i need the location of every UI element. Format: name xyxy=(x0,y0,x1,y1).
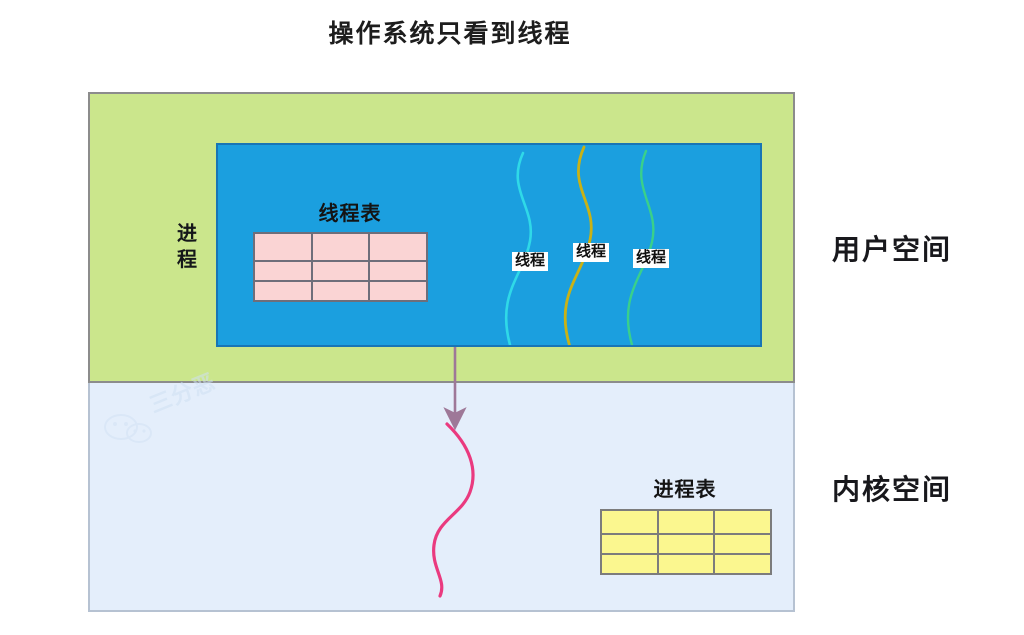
table-cell xyxy=(601,554,658,574)
table-row xyxy=(254,281,427,301)
table-cell xyxy=(369,261,427,281)
table-cell xyxy=(369,233,427,261)
table-row xyxy=(601,510,771,534)
thread-table-label: 线程表 xyxy=(280,197,420,226)
table-cell xyxy=(312,281,370,301)
table-row xyxy=(601,554,771,574)
table-cell xyxy=(658,510,715,534)
kernel-space-label: 内核空间 xyxy=(832,468,952,508)
table-row xyxy=(254,261,427,281)
table-row xyxy=(601,534,771,554)
process-table xyxy=(600,509,772,575)
thread-table xyxy=(253,232,428,302)
table-cell xyxy=(658,554,715,574)
table-cell xyxy=(714,534,771,554)
thread-label-2: 线程 xyxy=(573,243,609,262)
table-cell xyxy=(254,233,312,261)
table-cell xyxy=(658,534,715,554)
thread-curve-3 xyxy=(628,151,653,345)
process-label-char-1: 进 xyxy=(170,222,204,248)
table-cell xyxy=(601,534,658,554)
thread-label-3: 线程 xyxy=(633,249,669,268)
user-space-label: 用户空间 xyxy=(832,228,952,268)
process-table-label: 进程表 xyxy=(615,473,755,502)
page-title: 操作系统只看到线程 xyxy=(0,14,900,50)
table-cell xyxy=(254,281,312,301)
table-cell xyxy=(714,510,771,534)
thread-label-1: 线程 xyxy=(512,252,548,271)
process-label-char-2: 程 xyxy=(170,248,204,274)
table-cell xyxy=(312,233,370,261)
thread-curve-1 xyxy=(506,153,531,345)
table-row xyxy=(254,233,427,261)
process-label: 进 程 xyxy=(170,222,204,273)
table-cell xyxy=(254,261,312,281)
table-cell xyxy=(312,261,370,281)
diagram-root: 操作系统只看到线程 三分恶 进 程 xyxy=(0,0,1024,635)
watermark: 三分恶 xyxy=(100,388,250,443)
table-cell xyxy=(714,554,771,574)
table-cell xyxy=(369,281,427,301)
table-cell xyxy=(601,510,658,534)
